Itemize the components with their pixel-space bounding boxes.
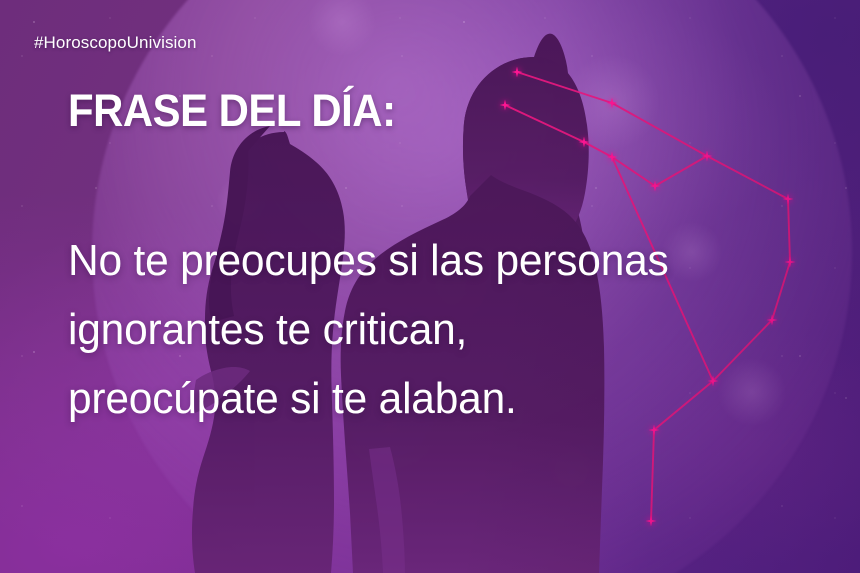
quote-line-1: No te preocupes si las personas	[68, 226, 811, 295]
hashtag-label: #HoroscopoUnivision	[34, 33, 197, 53]
text-content: #HoroscopoUnivision FRASE DEL DÍA: No te…	[0, 0, 860, 573]
quote-text: No te preocupes si las personas ignorant…	[68, 226, 811, 433]
horoscope-quote-card: #HoroscopoUnivision FRASE DEL DÍA: No te…	[0, 0, 860, 573]
quote-line-2: ignorantes te critican,	[68, 295, 811, 364]
quote-line-3: preocúpate si te alaban.	[68, 364, 811, 433]
page-title: FRASE DEL DÍA:	[68, 88, 396, 133]
